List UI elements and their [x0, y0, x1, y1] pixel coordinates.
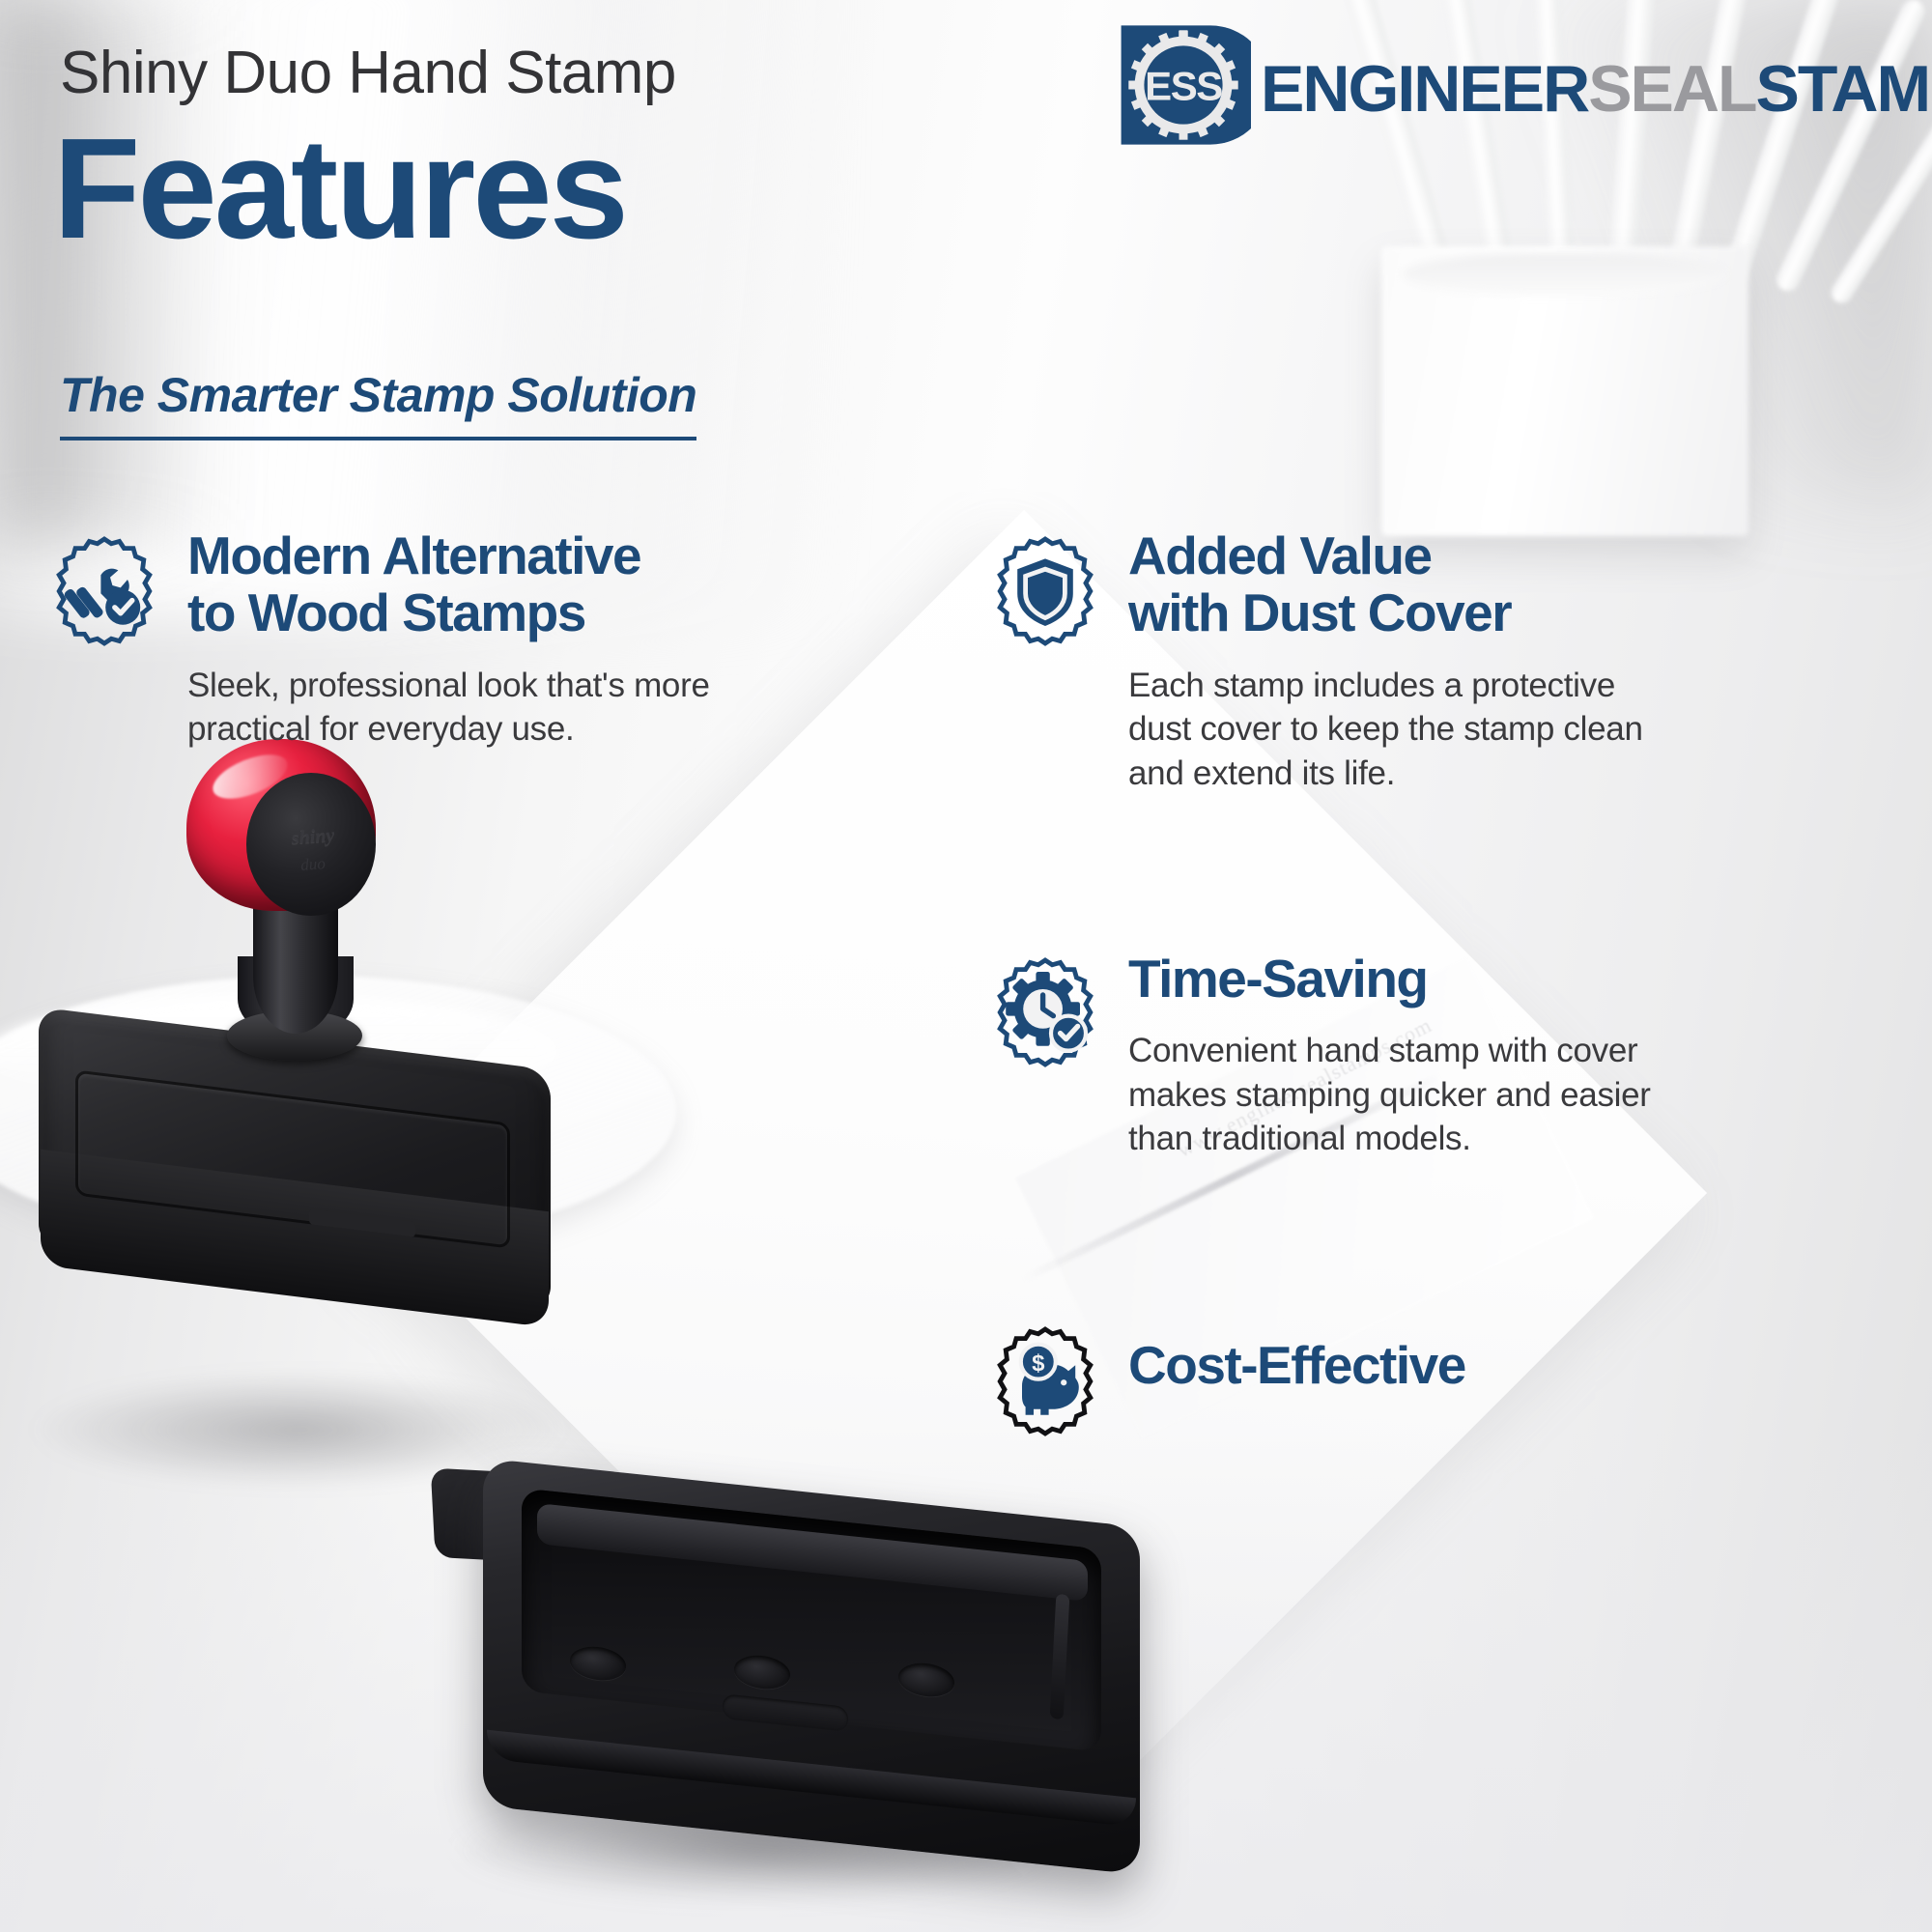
feature-description: Convenient hand stamp with cover makes s… — [1128, 1029, 1651, 1161]
infographic-content: Shiny Duo Hand Stamp Features The Smarte… — [0, 0, 1932, 1932]
feature-description: Sleek, professional look that's more pra… — [187, 664, 710, 752]
feature-item-modern-alternative: Modern Alternative to Wood Stamps Sleek,… — [46, 533, 916, 752]
feature-text: Time-Saving Convenient hand stamp with c… — [1128, 951, 1651, 1161]
piggy-bank-badge-icon: $ — [987, 1323, 1103, 1439]
wrench-check-badge-icon — [46, 533, 162, 649]
feature-item-cost-effective: $ Cost-Effective — [987, 1323, 1886, 1439]
ess-shield-gear-icon: ESS — [1116, 17, 1251, 153]
feature-title: Cost-Effective — [1128, 1337, 1465, 1394]
feature-item-time-saving: Time-Saving Convenient hand stamp with c… — [987, 954, 1886, 1161]
product-name-kicker: Shiny Duo Hand Stamp — [60, 39, 676, 107]
tagline-container: The Smarter Stamp Solution — [60, 367, 696, 440]
feature-title: Added Value with Dust Cover — [1128, 527, 1643, 642]
feature-title: Modern Alternative to Wood Stamps — [187, 527, 710, 642]
feature-description: Each stamp includes a protective dust co… — [1128, 664, 1643, 796]
gear-clock-check-badge-icon — [987, 954, 1103, 1070]
brand-logo[interactable]: ESS ENGINEER SEAL STAMPS .COM — [1116, 17, 1932, 153]
brand-wordmark: ENGINEER SEAL STAMPS .COM — [1261, 50, 1932, 120]
feature-text: Cost-Effective — [1128, 1337, 1465, 1439]
feature-text: Modern Alternative to Wood Stamps Sleek,… — [187, 527, 710, 752]
svg-text:$: $ — [1032, 1350, 1045, 1377]
feature-item-added-value: Added Value with Dust Cover Each stamp i… — [987, 533, 1886, 795]
page-title: Features — [53, 118, 626, 261]
svg-text:ESS: ESS — [1145, 63, 1222, 108]
shield-badge-icon — [987, 533, 1103, 649]
wordmark-engineer: ENGINEER — [1261, 59, 1588, 120]
wordmark-stamps: STAMPS — [1756, 59, 1932, 120]
tagline: The Smarter Stamp Solution — [60, 367, 696, 423]
feature-title: Time-Saving — [1128, 951, 1651, 1008]
wordmark-seal: SEAL — [1588, 59, 1755, 120]
feature-text: Added Value with Dust Cover Each stamp i… — [1128, 527, 1643, 795]
